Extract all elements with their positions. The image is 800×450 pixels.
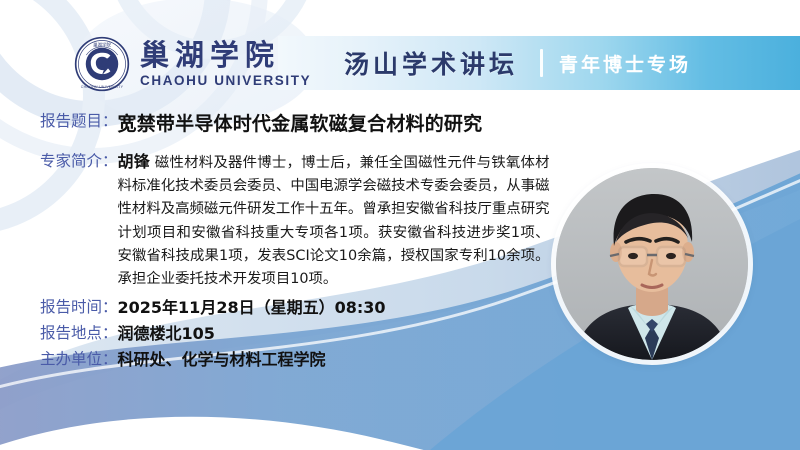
speaker-portrait	[556, 168, 748, 360]
logo-wordmark: 巢湖学院 CHAOHU UNIVERSITY	[140, 40, 311, 87]
university-seal-icon: 巢湖学院 CHAOHU UNIVERSITY	[74, 36, 130, 92]
report-place-row: 报告地点： 润德楼北105	[40, 322, 215, 346]
report-place-value: 润德楼北105	[118, 322, 215, 346]
report-host-row: 主办单位： 科研处、化学与材料工程学院	[40, 348, 326, 372]
speaker-bio-body: 胡锋 磁性材料及器件博士，博士后，兼任全国磁性元件与铁氧体材料标准化技术委员会委…	[118, 150, 550, 291]
poster-canvas: 汤山学术讲坛 青年博士专场 巢湖学院 CHAOHU UNIVERSITY 巢湖学…	[0, 0, 800, 450]
ribbon-main-title: 汤山学术讲坛	[344, 45, 518, 81]
report-place-label: 报告地点：	[40, 322, 118, 345]
report-host-value: 科研处、化学与材料工程学院	[118, 348, 326, 372]
logo-name-cn: 巢湖学院	[140, 40, 311, 70]
speaker-bio-text: 磁性材料及器件博士，博士后，兼任全国磁性元件与铁氧体材料标准化技术委员会委员、中…	[118, 155, 550, 287]
speaker-bio-label: 专家简介：	[40, 150, 118, 173]
report-host-label: 主办单位：	[40, 348, 118, 371]
report-title-row: 报告题目： 宽禁带半导体时代金属软磁复合材料的研究	[40, 110, 482, 139]
report-title-label: 报告题目：	[40, 110, 118, 133]
logo-name-en: CHAOHU UNIVERSITY	[140, 73, 311, 88]
university-logo: 巢湖学院 CHAOHU UNIVERSITY 巢湖学院 CHAOHU UNIVE…	[74, 36, 311, 92]
header-ribbon: 汤山学术讲坛 青年博士专场	[278, 36, 800, 90]
ribbon-divider-icon	[540, 49, 543, 77]
svg-text:CHAOHU UNIVERSITY: CHAOHU UNIVERSITY	[81, 85, 124, 89]
speaker-name: 胡锋	[118, 152, 150, 171]
report-time-label: 报告时间：	[40, 296, 118, 319]
ribbon-subtitle: 青年博士专场	[559, 50, 691, 77]
speaker-bio-row: 专家简介： 胡锋 磁性材料及器件博士，博士后，兼任全国磁性元件与铁氧体材料标准化…	[40, 150, 550, 291]
report-time-value: 2025年11月28日（星期五）08:30	[118, 296, 386, 320]
report-title-value: 宽禁带半导体时代金属软磁复合材料的研究	[118, 110, 483, 139]
report-time-row: 报告时间： 2025年11月28日（星期五）08:30	[40, 296, 386, 320]
